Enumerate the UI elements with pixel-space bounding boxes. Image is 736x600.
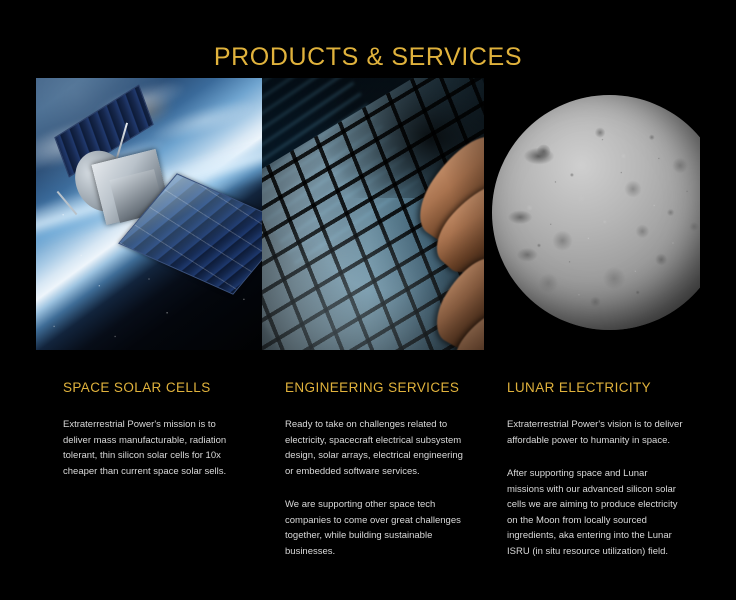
keyboard-image: [262, 78, 484, 350]
column-title: SPACE SOLAR CELLS: [63, 380, 285, 395]
column-paragraph: Extraterrestrial Power's mission is to d…: [63, 417, 241, 479]
page-title: PRODUCTS & SERVICES: [0, 43, 736, 72]
column-space-solar-cells: SPACE SOLAR CELLS Extraterrestrial Power…: [63, 380, 285, 559]
column-title: LUNAR ELECTRICITY: [507, 380, 703, 395]
keyboard-vignette: [262, 78, 484, 350]
column-lunar-electricity: LUNAR ELECTRICITY Extraterrestrial Power…: [507, 380, 703, 559]
column-paragraph: Extraterrestrial Power's vision is to de…: [507, 417, 685, 448]
satellite-image: [36, 78, 262, 350]
products-and-services-page: PRODUCTS & SERVICES: [0, 0, 736, 600]
media-strip: [36, 78, 700, 350]
column-title: ENGINEERING SERVICES: [285, 380, 507, 395]
moon-image: [484, 78, 700, 350]
column-paragraph: After supporting space and Lunar mission…: [507, 466, 685, 559]
column-paragraph: We are supporting other space tech compa…: [285, 497, 463, 559]
content-columns: SPACE SOLAR CELLS Extraterrestrial Power…: [63, 380, 703, 559]
column-paragraph: Ready to take on challenges related to e…: [285, 417, 463, 479]
column-engineering-services: ENGINEERING SERVICES Ready to take on ch…: [285, 380, 507, 559]
